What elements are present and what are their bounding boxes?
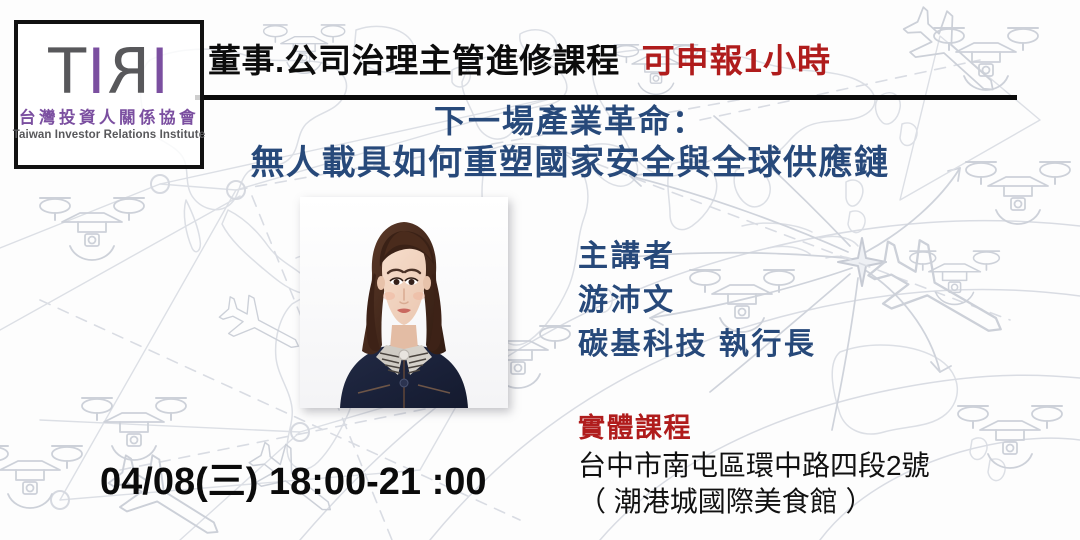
logo-wordmark: T I R I — [48, 42, 170, 103]
header-row: 董事.公司治理主管進修課程 可申報1小時 — [208, 34, 831, 82]
speaker-title: 碳基科技 執行長 — [578, 323, 816, 367]
speaker-name: 游沛文 — [578, 279, 816, 323]
event-datetime: 04/08(三) 18:00-21 :00 — [100, 450, 487, 505]
logo-letter-t: T — [48, 42, 87, 103]
speaker-role-label: 主講者 — [578, 235, 816, 279]
speaker-info: 主講者 游沛文 碳基科技 執行長 — [578, 235, 816, 367]
logo-letter-i2: I — [150, 42, 169, 103]
logo-english-name: Taiwan Investor Relations Institute — [13, 129, 205, 141]
speaker-portrait — [300, 197, 508, 408]
logo-letter-r: R — [106, 42, 150, 103]
tiri-logo: T I R I 台灣投資人關係協會 Taiwan Investor Relati… — [14, 20, 204, 169]
course-promo-poster: T I R I 台灣投資人關係協會 Taiwan Investor Relati… — [0, 0, 1080, 540]
logo-letter-i1: I — [87, 42, 106, 103]
title-line-1: 下一場產業革命： — [60, 103, 1080, 141]
credit-hours-badge: 可申報1小時 — [642, 34, 831, 82]
venue-format-label: 實體課程 — [578, 412, 930, 446]
logo-chinese-name: 台灣投資人關係協會 — [19, 104, 199, 128]
venue-info: 實體課程 台中市南屯區環中路四段2號 （ 潮港城國際美食館 ） — [578, 412, 930, 521]
title-line-2: 無人載具如何重塑國家安全與全球供應鏈 — [60, 143, 1080, 184]
course-category-label: 董事.公司治理主管進修課程 — [208, 34, 620, 82]
venue-address-line-2: （ 潮港城國際美食館 ） — [578, 484, 930, 520]
header-divider-rule — [195, 95, 1017, 100]
venue-address-line-1: 台中市南屯區環中路四段2號 — [578, 448, 930, 484]
speaker-portrait-image — [300, 197, 508, 408]
